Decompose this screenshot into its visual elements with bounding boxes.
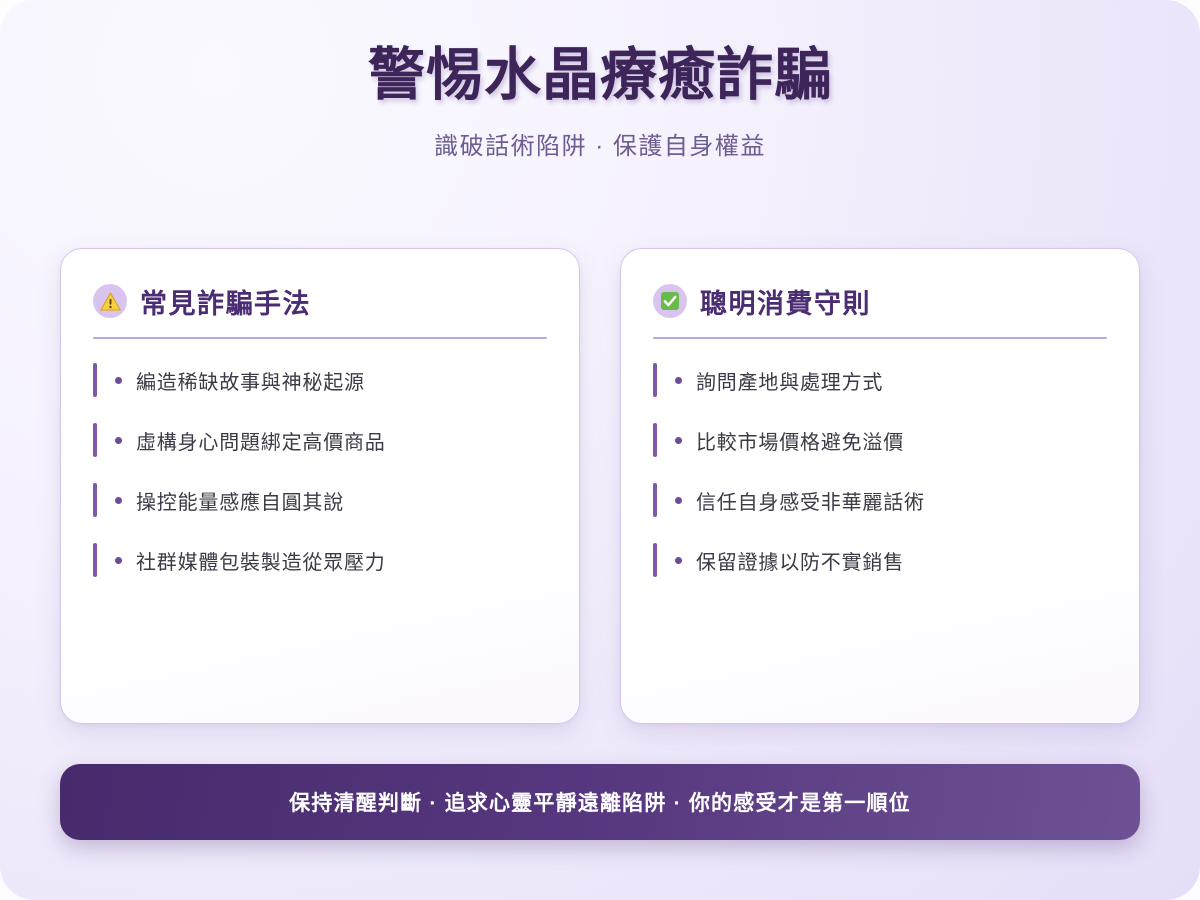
bullet-dot-icon	[115, 377, 122, 384]
list-item: 保留證據以防不實銷售	[653, 541, 1107, 579]
bullet-dot-icon	[115, 557, 122, 564]
item-accent-bar	[653, 423, 657, 457]
list-item-label: 詢問產地與處理方式	[696, 366, 883, 395]
list-item: 比較市場價格避免溢價	[653, 421, 1107, 459]
list-item: 詢問產地與處理方式	[653, 361, 1107, 399]
bullet-dot-icon	[115, 497, 122, 504]
scam-tactics-list: 編造稀缺故事與神秘起源 虛構身心問題綁定高價商品 操控能量感應自圓其說	[93, 361, 547, 579]
smart-consumer-rules-list: 詢問產地與處理方式 比較市場價格避免溢價 信任自身感受非華麗話術	[653, 361, 1107, 579]
card-header: 常見詐騙手法	[93, 279, 547, 323]
list-item: 社群媒體包裝製造從眾壓力	[93, 541, 547, 579]
warning-triangle-icon	[93, 284, 127, 318]
item-accent-bar	[93, 483, 97, 517]
item-accent-bar	[93, 363, 97, 397]
card-scam-tactics: 常見詐騙手法 編造稀缺故事與神秘起源 虛構身心問題綁定高價商品	[60, 248, 580, 724]
page-frame: 警惕水晶療癒詐騙 識破話術陷阱 · 保護自身權益 常見詐騙手法	[0, 0, 1200, 900]
list-item-label: 保留證據以防不實銷售	[696, 546, 904, 575]
page-background: 警惕水晶療癒詐騙 識破話術陷阱 · 保護自身權益 常見詐騙手法	[0, 0, 1200, 900]
list-item: 虛構身心問題綁定高價商品	[93, 421, 547, 459]
bullet-dot-icon	[675, 437, 682, 444]
card-title: 聰明消費守則	[700, 282, 871, 321]
list-item-label: 編造稀缺故事與神秘起源	[136, 366, 365, 395]
page-title: 警惕水晶療癒詐騙	[0, 42, 1200, 109]
item-accent-bar	[653, 483, 657, 517]
page-header: 警惕水晶療癒詐騙 識破話術陷阱 · 保護自身權益	[0, 42, 1200, 161]
item-accent-bar	[653, 363, 657, 397]
card-title: 常見詐騙手法	[140, 282, 311, 321]
list-item-label: 信任自身感受非華麗話術	[696, 486, 925, 515]
card-divider	[653, 337, 1107, 339]
card-smart-consumer-rules: 聰明消費守則 詢問產地與處理方式 比較市場價格避免溢價	[620, 248, 1140, 724]
footer-banner: 保持清醒判斷 · 追求心靈平靜遠離陷阱 · 你的感受才是第一順位	[60, 764, 1140, 840]
item-accent-bar	[93, 543, 97, 577]
list-item-label: 比較市場價格避免溢價	[696, 426, 904, 455]
bullet-dot-icon	[675, 497, 682, 504]
list-item: 信任自身感受非華麗話術	[653, 481, 1107, 519]
bullet-dot-icon	[675, 557, 682, 564]
footer-banner-text: 保持清醒判斷 · 追求心靈平靜遠離陷阱 · 你的感受才是第一順位	[289, 787, 911, 817]
bullet-dot-icon	[115, 437, 122, 444]
green-check-box-icon	[653, 284, 687, 318]
card-header: 聰明消費守則	[653, 279, 1107, 323]
list-item-label: 社群媒體包裝製造從眾壓力	[136, 546, 386, 575]
list-item: 編造稀缺故事與神秘起源	[93, 361, 547, 399]
card-divider	[93, 337, 547, 339]
page-subtitle: 識破話術陷阱 · 保護自身權益	[0, 126, 1200, 161]
item-accent-bar	[653, 543, 657, 577]
card-row: 常見詐騙手法 編造稀缺故事與神秘起源 虛構身心問題綁定高價商品	[60, 248, 1140, 724]
bullet-dot-icon	[675, 377, 682, 384]
item-accent-bar	[93, 423, 97, 457]
list-item: 操控能量感應自圓其說	[93, 481, 547, 519]
list-item-label: 操控能量感應自圓其說	[136, 486, 344, 515]
list-item-label: 虛構身心問題綁定高價商品	[136, 426, 386, 455]
